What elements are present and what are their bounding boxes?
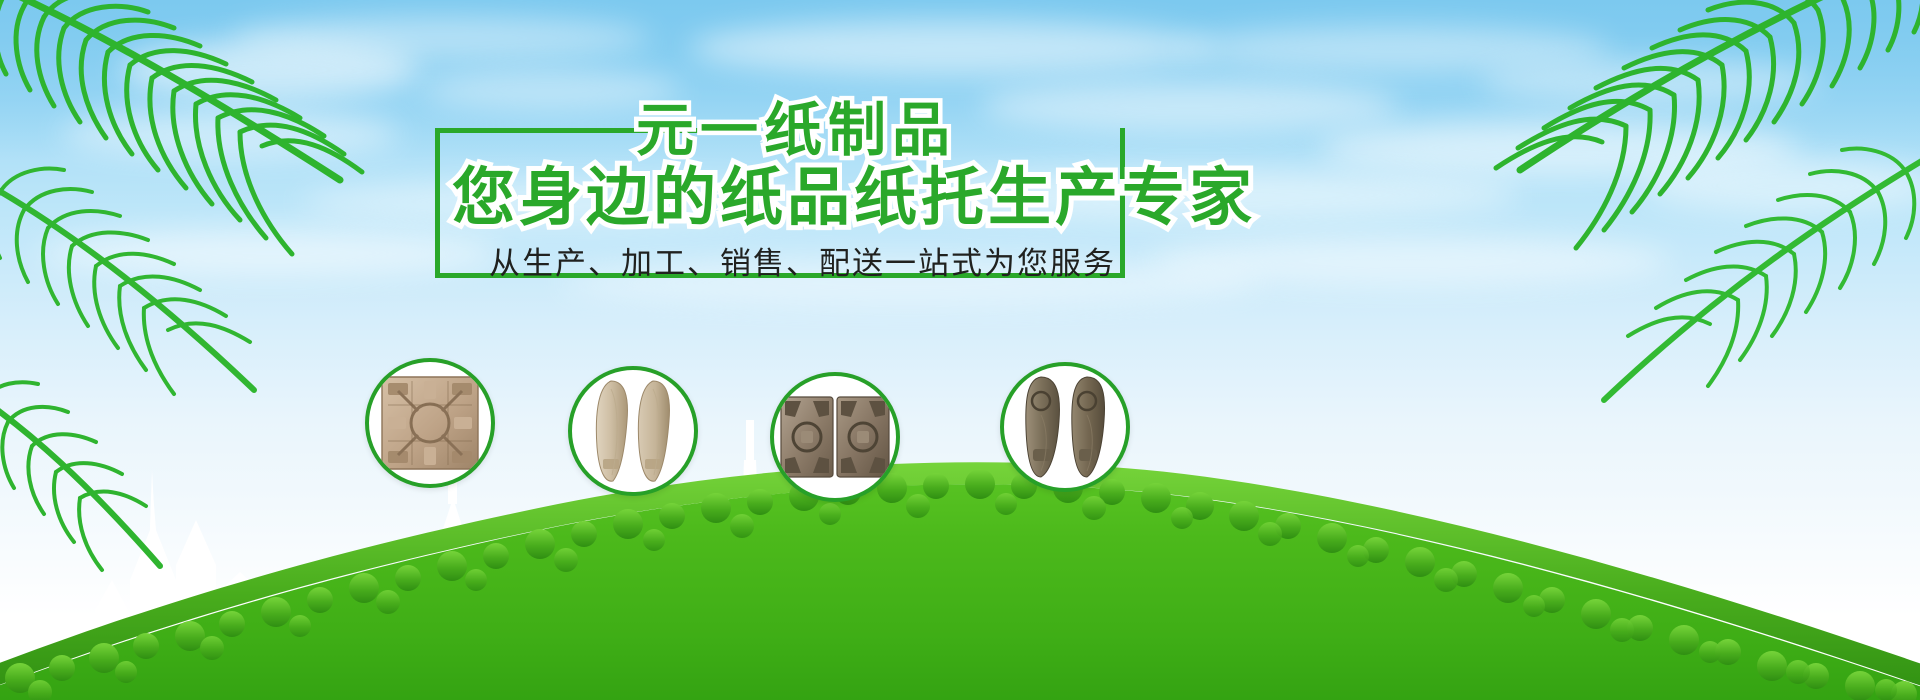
molded-pulp-tray-single-image bbox=[374, 367, 486, 479]
cloud bbox=[690, 20, 1210, 76]
palm-frond-icon bbox=[1580, 130, 1920, 430]
cloud bbox=[980, 80, 1400, 132]
palm-frond-icon bbox=[0, 150, 270, 410]
molded-pulp-shoe-insert-pair-dark-image bbox=[1013, 373, 1117, 481]
molded-pulp-tray-pair-image bbox=[779, 389, 891, 485]
palm-frond-icon bbox=[0, 380, 180, 580]
product-circle-3[interactable] bbox=[770, 372, 900, 502]
service-tagline: 从生产、加工、销售、配送一站式为您服务 bbox=[489, 238, 1116, 283]
product-circle-1[interactable] bbox=[365, 358, 495, 488]
promo-banner: 元一纸制品 您身边的纸品纸托生产专家 从生产、加工、销售、配送一站式为您服务 bbox=[0, 0, 1920, 700]
product-circle-4[interactable] bbox=[1000, 362, 1130, 492]
page-subtitle-headline: 您身边的纸品纸托生产专家 bbox=[452, 147, 1256, 238]
product-circle-2[interactable] bbox=[568, 366, 698, 496]
molded-pulp-shoe-insert-pair-light-image bbox=[581, 375, 685, 487]
